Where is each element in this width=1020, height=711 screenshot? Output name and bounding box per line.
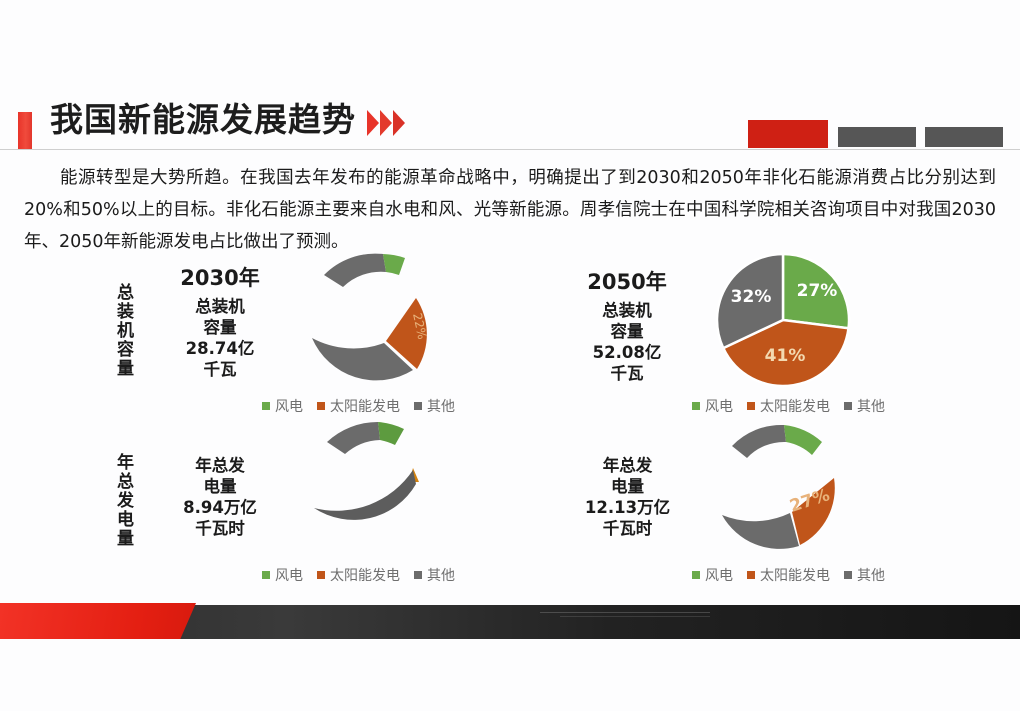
legend-swatch-solar [747, 571, 755, 579]
caption-line-1: 年总发 [560, 455, 695, 476]
caption-line-3: 12.13万亿 [560, 497, 695, 518]
legend-item-solar: 太阳能发电 [317, 396, 400, 416]
caption-line-3: 28.74亿 [160, 338, 280, 359]
row-label-generation: 年总发电量 [105, 435, 135, 565]
legend-label-other: 其他 [427, 565, 455, 585]
legend-label-solar: 太阳能发电 [760, 396, 830, 416]
slice-label-solar: 41% [765, 346, 806, 366]
footer-highlight-line-1 [540, 612, 710, 613]
title-accent-bar [18, 112, 32, 150]
body-paragraph: 能源转型是大势所趋。在我国去年发布的能源革命战略中，明确提出了到2030和205… [24, 162, 996, 258]
caption-line-1: 年总发 [160, 455, 280, 476]
caption-generation-2030: 年总发 电量 8.94万亿 千瓦时 [160, 455, 280, 539]
slide-canvas: 我国新能源发展趋势 能源转型是大势所趋。在我国去年发布的能源革命战略中，明确提出… [0, 0, 1020, 711]
header-decoration-gray-2 [925, 127, 1003, 147]
legend-label-other: 其他 [857, 565, 885, 585]
legend-item-other: 其他 [414, 396, 455, 416]
caption-line-3: 52.08亿 [562, 342, 692, 363]
legend-item-solar: 太阳能发电 [317, 565, 400, 585]
pie-chart-capacity-2030: 22% [300, 248, 500, 398]
chevron-right-icon [380, 110, 392, 136]
slice-wind-fragment [784, 425, 822, 455]
slice-other-crescent [314, 470, 416, 520]
legend-item-other: 其他 [844, 565, 885, 585]
slice-other-crescent [722, 513, 799, 549]
slice-label-wind: 27% [797, 281, 838, 301]
caption-line-4: 千瓦时 [160, 518, 280, 539]
pie-chart-generation-2030 [300, 418, 500, 563]
legend-swatch-wind [692, 402, 700, 410]
header-decoration-gray-1 [838, 127, 916, 147]
legend-generation-2030: 风电 太阳能发电 其他 [262, 565, 455, 585]
legend-swatch-other [844, 571, 852, 579]
caption-year: 2050年 [562, 266, 692, 296]
caption-line-3: 8.94万亿 [160, 497, 280, 518]
legend-swatch-solar [747, 402, 755, 410]
legend-item-solar: 太阳能发电 [747, 565, 830, 585]
caption-line-2: 电量 [160, 476, 280, 497]
chevron-right-icon [367, 110, 379, 136]
row-label-capacity: 总装机容量 [105, 268, 135, 393]
legend-label-other: 其他 [857, 396, 885, 416]
pie-chart-capacity-2050-svg: 27% 41% 32% [700, 252, 870, 392]
pie-chart-generation-2050-svg: 27% [700, 420, 890, 565]
legend-label-wind: 风电 [275, 565, 303, 585]
caption-line-4: 千瓦 [160, 359, 280, 380]
slice-wind-fragment [378, 422, 404, 445]
legend-item-wind: 风电 [262, 565, 303, 585]
legend-swatch-other [414, 571, 422, 579]
footer-accent-red [0, 603, 196, 639]
caption-line-4: 千瓦 [562, 363, 692, 384]
legend-label-wind: 风电 [705, 565, 733, 585]
legend-swatch-other [844, 402, 852, 410]
caption-line-2: 容量 [160, 317, 280, 338]
legend-swatch-solar [317, 571, 325, 579]
page-title: 我国新能源发展趋势 [50, 103, 356, 136]
caption-line-2: 电量 [560, 476, 695, 497]
slice-other-fragment [324, 254, 386, 287]
chevron-right-icon [393, 110, 405, 136]
caption-line-1: 总装机 [160, 296, 280, 317]
legend-item-other: 其他 [414, 565, 455, 585]
header-decoration-red [748, 120, 828, 148]
pie-chart-generation-2030-svg [300, 418, 500, 563]
slice-label-other: 32% [731, 287, 772, 307]
caption-line-2: 容量 [562, 321, 692, 342]
legend-swatch-wind [692, 571, 700, 579]
legend-label-solar: 太阳能发电 [760, 565, 830, 585]
caption-line-4: 千瓦时 [560, 518, 695, 539]
footer-highlight-line-2 [560, 616, 710, 617]
caption-line-1: 总装机 [562, 300, 692, 321]
legend-swatch-wind [262, 402, 270, 410]
title-divider [0, 149, 1020, 150]
slice-other-fragment [732, 425, 786, 458]
caption-capacity-2050: 2050年 总装机 容量 52.08亿 千瓦 [562, 266, 692, 384]
legend-label-solar: 太阳能发电 [330, 396, 400, 416]
slice-wind-fragment [383, 254, 405, 275]
pie-chart-capacity-2030-svg: 22% [300, 248, 500, 398]
pie-chart-generation-2050: 27% [700, 420, 890, 565]
legend-label-solar: 太阳能发电 [330, 565, 400, 585]
caption-capacity-2030: 2030年 总装机 容量 28.74亿 千瓦 [160, 262, 280, 380]
legend-item-wind: 风电 [692, 565, 733, 585]
legend-item-other: 其他 [844, 396, 885, 416]
pie-chart-capacity-2050: 27% 41% 32% [700, 252, 870, 392]
slice-other-fragment [327, 422, 380, 454]
caption-generation-2050: 年总发 电量 12.13万亿 千瓦时 [560, 455, 695, 539]
legend-swatch-other [414, 402, 422, 410]
legend-swatch-solar [317, 402, 325, 410]
chevron-right-icon-group [367, 110, 405, 136]
legend-capacity-2050: 风电 太阳能发电 其他 [692, 396, 885, 416]
legend-swatch-wind [262, 571, 270, 579]
caption-year: 2030年 [160, 262, 280, 292]
legend-item-solar: 太阳能发电 [747, 396, 830, 416]
legend-label-wind: 风电 [275, 396, 303, 416]
legend-capacity-2030: 风电 太阳能发电 其他 [262, 396, 455, 416]
legend-item-wind: 风电 [262, 396, 303, 416]
legend-label-other: 其他 [427, 396, 455, 416]
legend-item-wind: 风电 [692, 396, 733, 416]
legend-generation-2050: 风电 太阳能发电 其他 [692, 565, 885, 585]
legend-label-wind: 风电 [705, 396, 733, 416]
